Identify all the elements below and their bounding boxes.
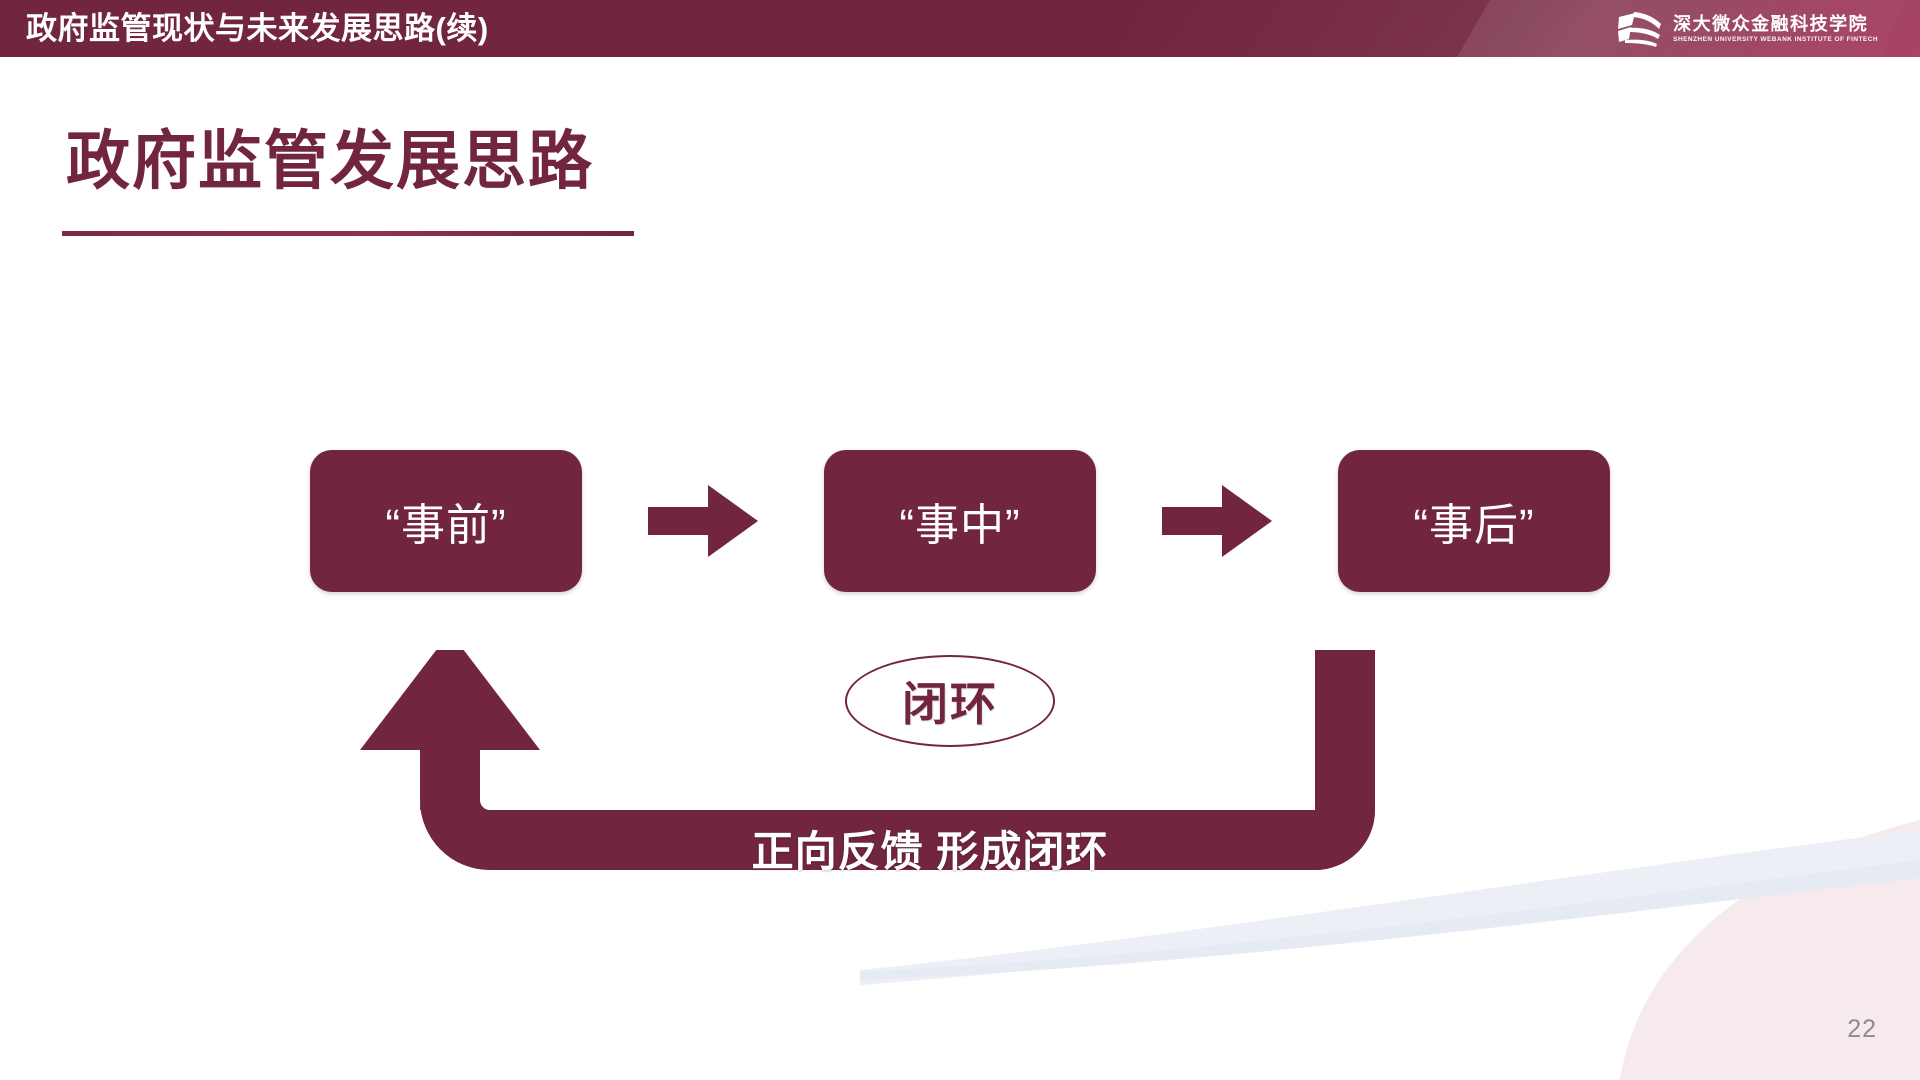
- closed-loop-badge: 闭环: [845, 655, 1055, 747]
- page-number: 22: [1847, 1015, 1877, 1044]
- logo-name-cn: 深大微众金融科技学院: [1673, 15, 1878, 33]
- slide: 政府监管现状与未来发展思路(续) 深大微众金融科技学院 SHENZHEN UNI…: [0, 0, 1920, 1080]
- header-title: 政府监管现状与未来发展思路(续): [26, 0, 489, 57]
- arrow-right-icon: [648, 483, 758, 559]
- logo-text-block: 深大微众金融科技学院 SHENZHEN UNIVERSITY WEBANK IN…: [1673, 15, 1878, 44]
- closed-loop-label: 闭环: [845, 655, 1055, 747]
- institute-logo: 深大微众金融科技学院 SHENZHEN UNIVERSITY WEBANK IN…: [1615, 7, 1878, 51]
- flow-gap-1: [582, 483, 824, 559]
- flow-gap-2: [1096, 483, 1338, 559]
- arrow-right-icon: [1162, 483, 1272, 559]
- feedback-loop-label: 正向反馈 形成闭环: [360, 818, 1500, 879]
- stage-box-after[interactable]: “事后”: [1338, 450, 1610, 592]
- header-divider: [0, 57, 1920, 60]
- stage-box-before[interactable]: “事前”: [310, 450, 582, 592]
- process-flow-row: “事前” “事中” “事后”: [310, 450, 1610, 592]
- page-title: 政府监管发展思路: [66, 110, 594, 202]
- swoosh-logo-icon: [1615, 9, 1663, 49]
- page-title-underline: [62, 231, 634, 236]
- stage-box-during[interactable]: “事中”: [824, 450, 1096, 592]
- logo-name-en: SHENZHEN UNIVERSITY WEBANK INSTITUTE OF …: [1673, 37, 1878, 44]
